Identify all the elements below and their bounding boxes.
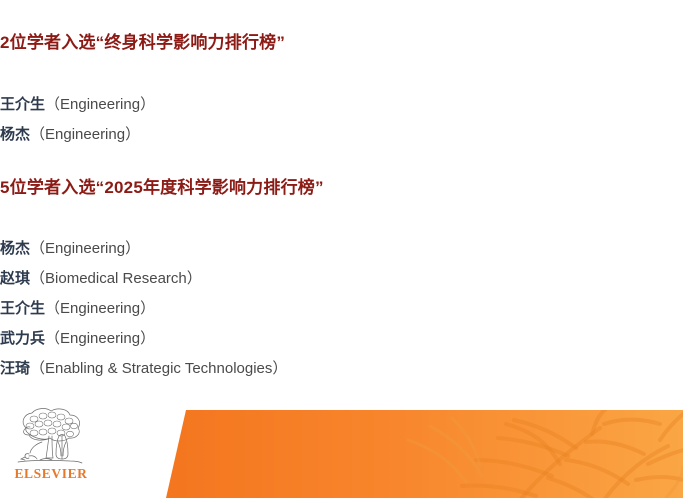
- scholar-affiliation: （Engineering）: [45, 96, 155, 113]
- scholar-affiliation: （Engineering）: [30, 126, 140, 143]
- list-item: 王介生（Engineering）: [0, 300, 683, 318]
- scholar-affiliation: （Engineering）: [30, 240, 140, 257]
- elsevier-wordmark: ELSEVIER: [8, 466, 94, 482]
- scholar-affiliation: （Enabling & Strategic Technologies）: [30, 360, 287, 377]
- scholar-name: 赵琪: [0, 270, 30, 287]
- scholar-affiliation: （Engineering）: [45, 330, 155, 347]
- scholar-name: 王介生: [0, 300, 45, 317]
- slide-canvas: 2位学者入选“终身科学影响力排行榜” 王介生（Engineering） 杨杰（E…: [0, 0, 683, 498]
- elsevier-logo: ELSEVIER: [8, 406, 94, 492]
- scholar-name: 杨杰: [0, 126, 30, 143]
- scholar-affiliation: （Engineering）: [45, 300, 155, 317]
- scholar-name: 武力兵: [0, 330, 45, 347]
- list-item: 汪琦（Enabling & Strategic Technologies）: [0, 360, 683, 378]
- scholar-name: 杨杰: [0, 240, 30, 257]
- list-item: 王介生（Engineering）: [0, 96, 683, 114]
- scholar-name: 王介生: [0, 96, 45, 113]
- list-item: 杨杰（Engineering）: [0, 240, 683, 258]
- list-item: 武力兵（Engineering）: [0, 330, 683, 348]
- section-1-heading: 2位学者入选“终身科学影响力排行榜”: [0, 33, 683, 53]
- list-item: 赵琪（Biomedical Research）: [0, 270, 683, 288]
- bottom-orange-banner: [0, 404, 683, 498]
- scholar-affiliation: （Biomedical Research）: [30, 270, 202, 287]
- scholar-name: 汪琦: [0, 360, 30, 377]
- section-2-heading: 5位学者入选“2025年度科学影响力排行榜”: [0, 178, 683, 198]
- list-item: 杨杰（Engineering）: [0, 126, 683, 144]
- elsevier-tree-icon: [12, 406, 90, 466]
